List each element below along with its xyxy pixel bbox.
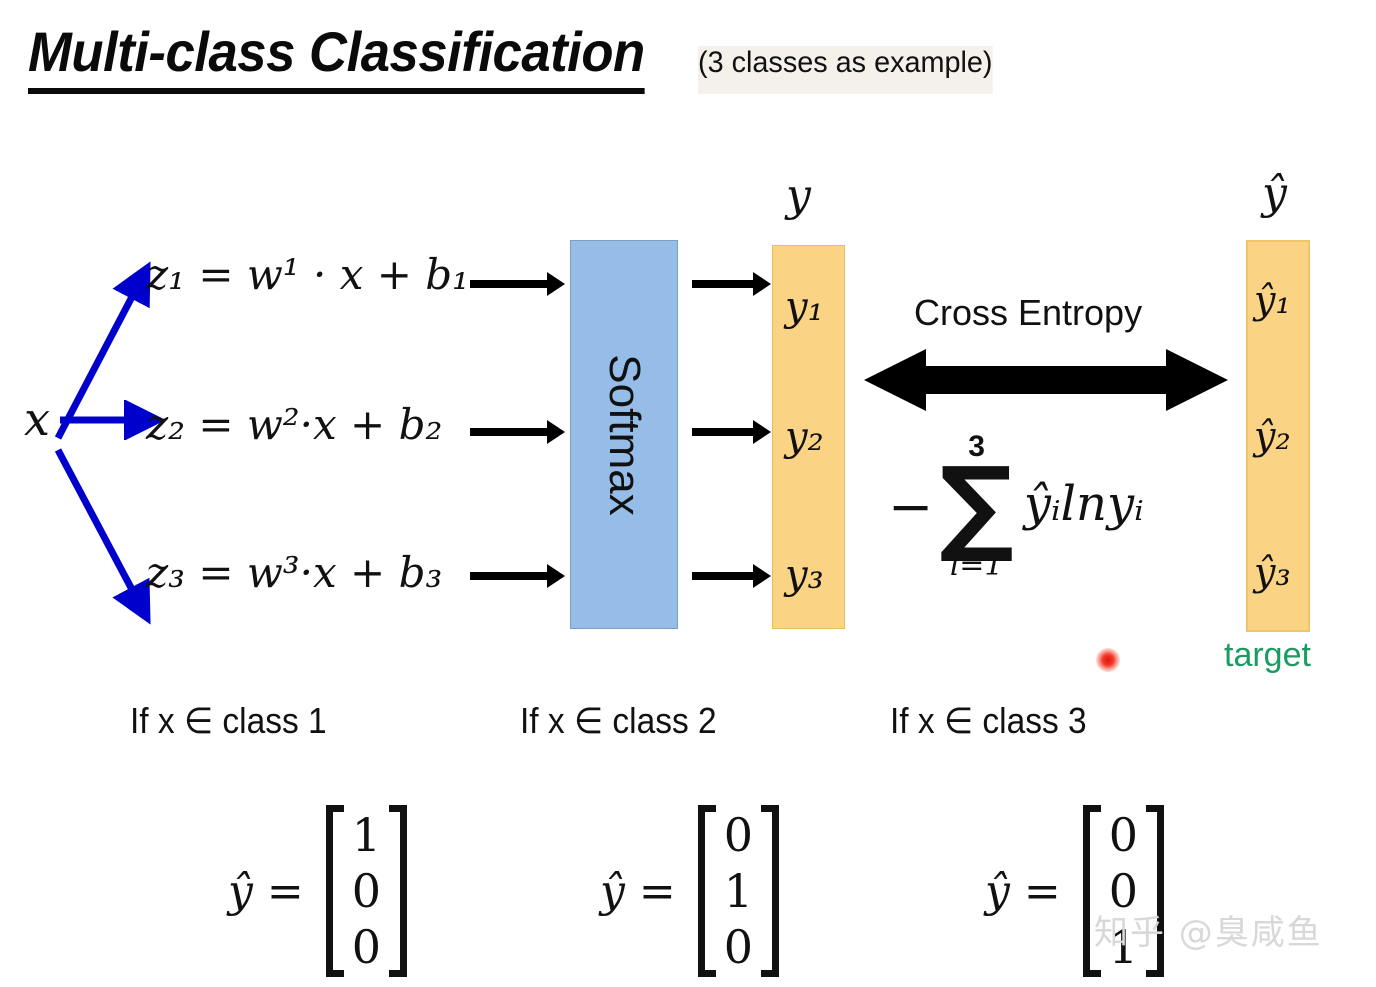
vector-cell: 0 (1109, 807, 1138, 863)
summation-group: 3 ∑ i=1 (939, 432, 1014, 581)
arrow-softmax-to-y3 (692, 572, 754, 580)
equation-z3: z₃ = w³·x + b₃ (146, 548, 442, 597)
case-vector-1: ŷ = 1 0 0 (228, 805, 407, 977)
bracket-right-icon (389, 805, 407, 977)
vector-cell: 1 (352, 807, 381, 863)
cross-entropy-label: Cross Entropy (914, 292, 1142, 334)
vector-cell: 0 (724, 919, 753, 975)
y-vector-item-1: y₁ (785, 284, 824, 330)
case-vector-2-cells: 0 1 0 (716, 805, 761, 977)
equation-z2: z₂ = w²·x + b₂ (146, 400, 442, 449)
target-vector-item-3: ŷ₃ (1254, 550, 1291, 594)
target-vector-item-2: ŷ₂ (1254, 414, 1291, 458)
summation-sigma-icon: ∑ (939, 462, 1014, 549)
case-vector-2-lead: ŷ = (600, 866, 676, 917)
y-vector-item-3: y₃ (785, 552, 824, 598)
equation-z1: z₁ = w¹ · x + b₁ (146, 250, 469, 299)
case-vector-2-bracket: 0 1 0 (698, 805, 779, 977)
y-vector-item-2: y₂ (785, 414, 824, 460)
case-vector-1-bracket: 1 0 0 (326, 805, 407, 977)
bracket-left-icon (698, 805, 716, 977)
arrow-z1-to-softmax (470, 280, 548, 288)
bracket-right-icon (761, 805, 779, 977)
formula-body: ŷᵢlnyᵢ (1024, 476, 1144, 532)
case-vector-1-cells: 1 0 0 (344, 805, 389, 977)
case-caption-2: If x ∈ class 2 (520, 700, 717, 742)
slide-canvas: Multi-class Classification (3 classes as… (0, 0, 1376, 987)
double-headed-arrow-icon (864, 349, 1228, 411)
y-vector-box: y₁ y₂ y₃ (772, 245, 845, 629)
cross-entropy-formula: − 3 ∑ i=1 ŷᵢlnyᵢ (888, 432, 1144, 581)
target-caption: target (1224, 636, 1311, 675)
target-vector-item-1: ŷ₁ (1254, 278, 1291, 322)
case-caption-3: If x ∈ class 3 (890, 700, 1087, 742)
softmax-box: Softmax (570, 240, 678, 629)
case-vector-3-lead: ŷ = (985, 866, 1061, 917)
page-title-subtitle: (3 classes as example) (698, 46, 993, 94)
arrow-z3-to-softmax (470, 572, 548, 580)
arrow-z2-to-softmax (470, 428, 548, 436)
blue-arrow-to-z3 (46, 440, 166, 630)
page-title: Multi-class Classification (3 classes as… (28, 22, 1005, 94)
y-vector-header: y (786, 170, 811, 221)
vector-cell: 0 (724, 807, 753, 863)
laser-pointer-dot (1096, 648, 1120, 672)
case-vector-2: ŷ = 0 1 0 (600, 805, 779, 977)
case-caption-1: If x ∈ class 1 (130, 700, 327, 742)
case-vector-1-lead: ŷ = (228, 866, 304, 917)
page-title-main: Multi-class Classification (28, 22, 645, 94)
summation-lower-limit: i=1 (950, 551, 1004, 581)
vector-cell: 0 (352, 863, 381, 919)
arrow-softmax-to-y2 (692, 428, 754, 436)
softmax-label: Softmax (599, 354, 649, 515)
bracket-left-icon (326, 805, 344, 977)
watermark: 知乎 @臭咸鱼 (1094, 905, 1323, 954)
formula-minus-sign: − (888, 480, 933, 534)
target-vector-header: ŷ (1262, 168, 1287, 219)
target-vector-box: ŷ₁ ŷ₂ ŷ₃ (1246, 240, 1310, 632)
vector-cell: 1 (724, 863, 753, 919)
vector-cell: 0 (352, 919, 381, 975)
arrow-softmax-to-y1 (692, 280, 754, 288)
